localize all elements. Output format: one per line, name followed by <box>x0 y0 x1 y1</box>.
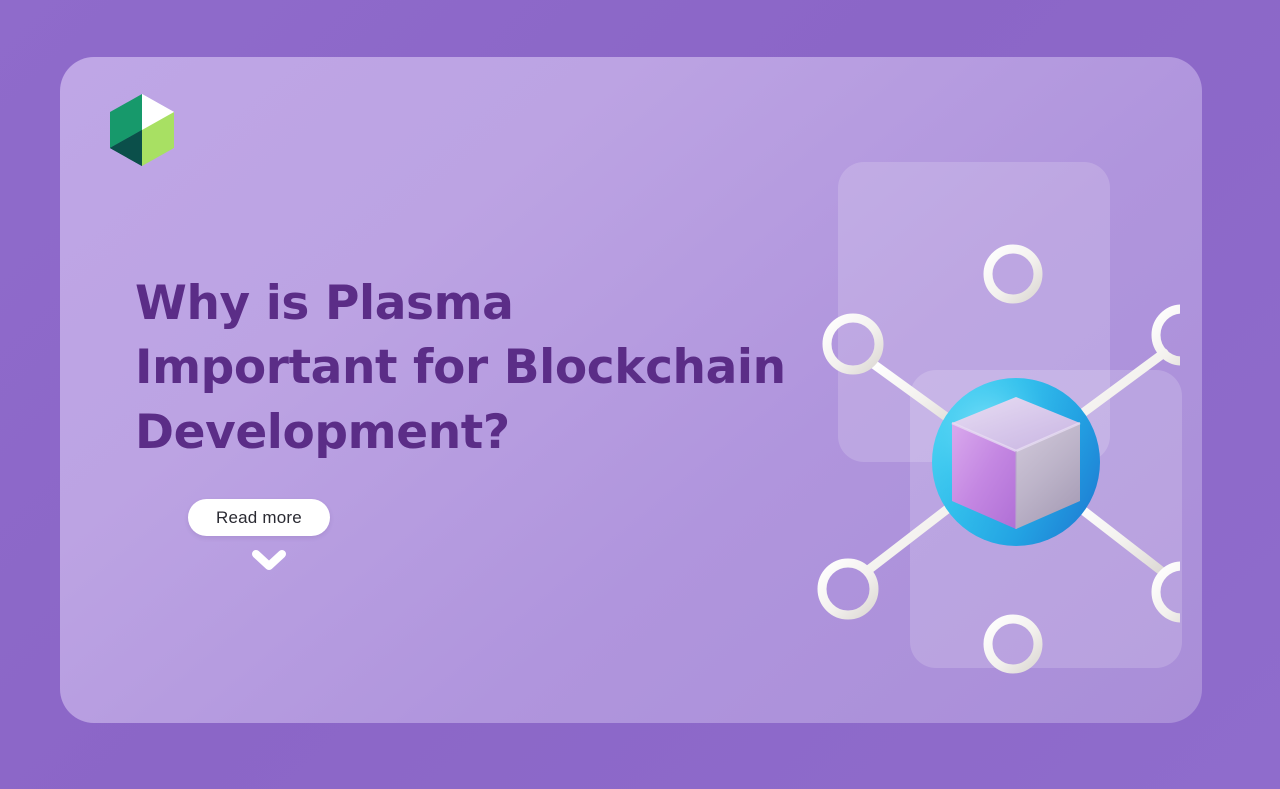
chevron-down-icon <box>252 550 286 572</box>
network-graphic <box>720 77 1180 707</box>
text-block: Why is Plasma Important for Blockchain D… <box>135 272 775 572</box>
headline-line-1: Why is Plasma <box>135 272 775 336</box>
node-lower-right <box>1156 566 1180 618</box>
headline-line-2: Important for Blockchain <box>135 336 775 400</box>
hexagon-cube-logo[interactable] <box>104 90 180 166</box>
read-more-button[interactable]: Read more <box>188 499 330 536</box>
logo-icon <box>104 90 180 166</box>
node-upper-left <box>827 318 879 370</box>
page-title: Why is Plasma Important for Blockchain D… <box>135 272 775 465</box>
headline-line-3: Development? <box>135 401 775 465</box>
node-lower-left <box>822 563 874 615</box>
scroll-down-button[interactable] <box>188 550 350 572</box>
blockchain-cube-icon <box>952 397 1080 529</box>
banner-card: Why is Plasma Important for Blockchain D… <box>60 57 1202 723</box>
node-upper-right <box>1156 309 1180 361</box>
blockchain-network-illustration <box>720 77 1180 707</box>
